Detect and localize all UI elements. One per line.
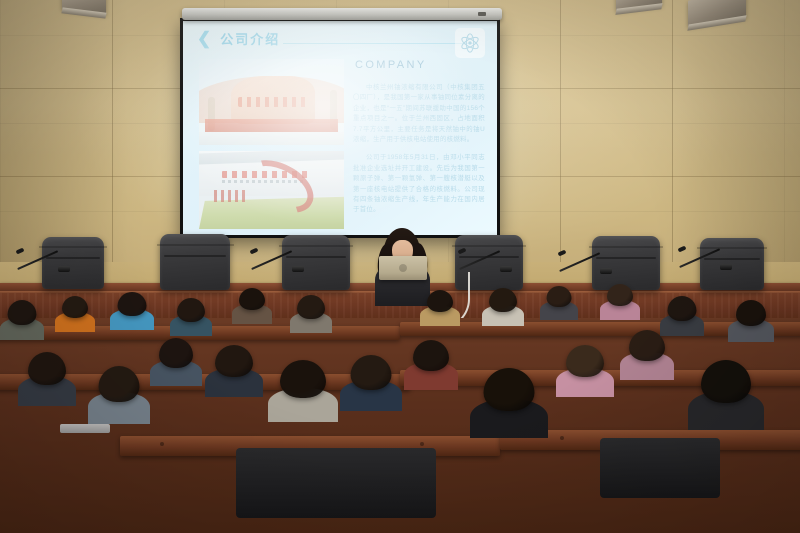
slide-paragraph-1: 中核兰州铀浓缩有限公司（中核集团五〇四厂），是我国第一家从事铀同位素分离的企业，… xyxy=(353,83,485,145)
audience-person xyxy=(150,338,202,386)
audience-person-head xyxy=(566,345,604,377)
audience-person xyxy=(170,298,212,336)
slide-header-rule xyxy=(283,43,473,44)
audience-person xyxy=(600,284,640,320)
audience-person-head xyxy=(547,286,572,307)
head-table-chair xyxy=(282,235,350,290)
presentation-slide: ❮ 公司介绍 xyxy=(183,21,497,235)
audience-person xyxy=(232,288,272,324)
audience-person xyxy=(55,296,95,332)
audience-person-head xyxy=(668,296,697,321)
projector-screen-housing xyxy=(182,8,502,20)
head-table-chair xyxy=(592,236,660,290)
slide-text-body: COMPANY 中核兰州铀浓缩有限公司（中核集团五〇四厂），是我国第一家从事铀同… xyxy=(353,59,485,221)
head-table-chair xyxy=(42,237,104,289)
projection-screen: ❮ 公司介绍 xyxy=(180,18,500,238)
seat-back xyxy=(236,448,436,518)
audience-person xyxy=(404,340,458,390)
audience-person xyxy=(340,355,402,411)
audience-person-head xyxy=(159,338,193,368)
audience-person-head xyxy=(62,296,88,318)
audience-person-head xyxy=(427,290,453,312)
audience-person-head xyxy=(484,368,535,411)
audience-person xyxy=(688,360,764,430)
slide-section-heading: COMPANY xyxy=(355,59,485,71)
audience-person xyxy=(268,360,338,422)
audience-person xyxy=(205,345,263,397)
audience-person-head xyxy=(118,292,147,316)
head-table-chair xyxy=(700,238,764,290)
laptop-logo-icon xyxy=(399,264,407,272)
company-building-photo xyxy=(199,151,344,229)
audience-person xyxy=(420,290,460,326)
audience-person-head xyxy=(8,300,37,325)
head-table-chair xyxy=(160,234,230,290)
audience-person xyxy=(110,292,154,330)
audience-person xyxy=(556,345,614,397)
audience-person-head xyxy=(607,284,633,306)
conference-hall-photo: ❮ 公司介绍 xyxy=(0,0,800,533)
audience-seating-area xyxy=(0,318,800,533)
audience-person xyxy=(0,300,44,340)
audience-person xyxy=(540,286,578,320)
slide-paragraph-2: 公司于1958年5月31日，由邓小平同志批准企业选址并开工建设。先后为我国第一颗… xyxy=(353,153,485,215)
audience-person xyxy=(728,300,774,342)
audience-person-head xyxy=(736,300,766,326)
audience-person-head xyxy=(351,355,392,390)
audience-person-head xyxy=(28,352,66,385)
slide-header: ❮ 公司介绍 xyxy=(197,29,280,48)
audience-person xyxy=(482,288,524,326)
audience-person-head xyxy=(413,340,449,371)
audience-person xyxy=(88,366,150,424)
ceiling-speaker-left-icon xyxy=(62,0,106,15)
stone-monument-photo xyxy=(199,59,344,145)
screen-roller-knob xyxy=(478,12,486,16)
audience-person xyxy=(620,330,674,380)
slide-images xyxy=(199,59,344,229)
presenter-laptop xyxy=(379,256,427,280)
audience-person-head xyxy=(629,330,665,361)
audience-person-head xyxy=(280,360,326,398)
audience-person-head xyxy=(239,288,265,310)
audience-person-head xyxy=(215,345,253,377)
seat-tray xyxy=(60,424,110,433)
audience-person xyxy=(18,352,76,406)
ceiling-speaker-right-icon xyxy=(688,0,746,27)
audience-person-head xyxy=(701,360,751,403)
slide-title: 公司介绍 xyxy=(220,29,280,48)
seat-back xyxy=(600,438,720,498)
atom-logo-icon xyxy=(455,28,485,58)
audience-person xyxy=(290,295,332,333)
audience-person-head xyxy=(99,366,140,402)
chevron-left-icon: ❮ xyxy=(197,30,211,47)
audience-person-head xyxy=(297,295,325,319)
audience-person xyxy=(470,368,548,438)
audience-person-head xyxy=(177,298,205,322)
ceiling-speaker-center-icon xyxy=(616,0,662,11)
audience-person-head xyxy=(489,288,517,312)
